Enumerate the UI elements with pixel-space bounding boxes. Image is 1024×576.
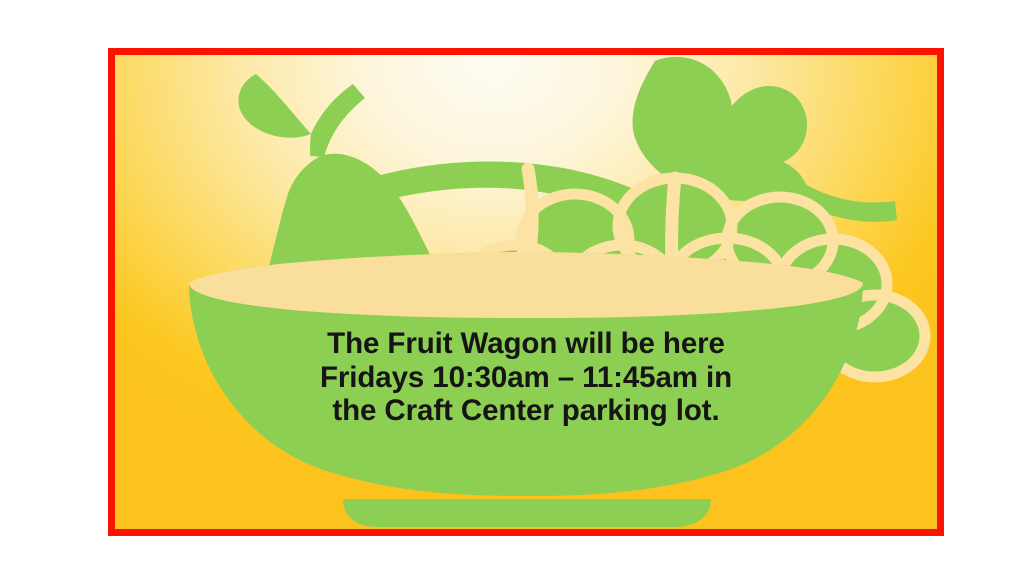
pear-stem-icon [310, 84, 365, 157]
slide-canvas: The Fruit Wagon will be here Fridays 10:… [0, 0, 1024, 576]
bowl-inner-icon [195, 295, 857, 492]
bowl-base-icon [343, 499, 711, 527]
pear-leaf-icon [238, 74, 311, 138]
poster-frame: The Fruit Wagon will be here Fridays 10:… [108, 48, 944, 536]
fruit-bowl-illustration [115, 55, 937, 529]
bowl-group [189, 252, 863, 496]
